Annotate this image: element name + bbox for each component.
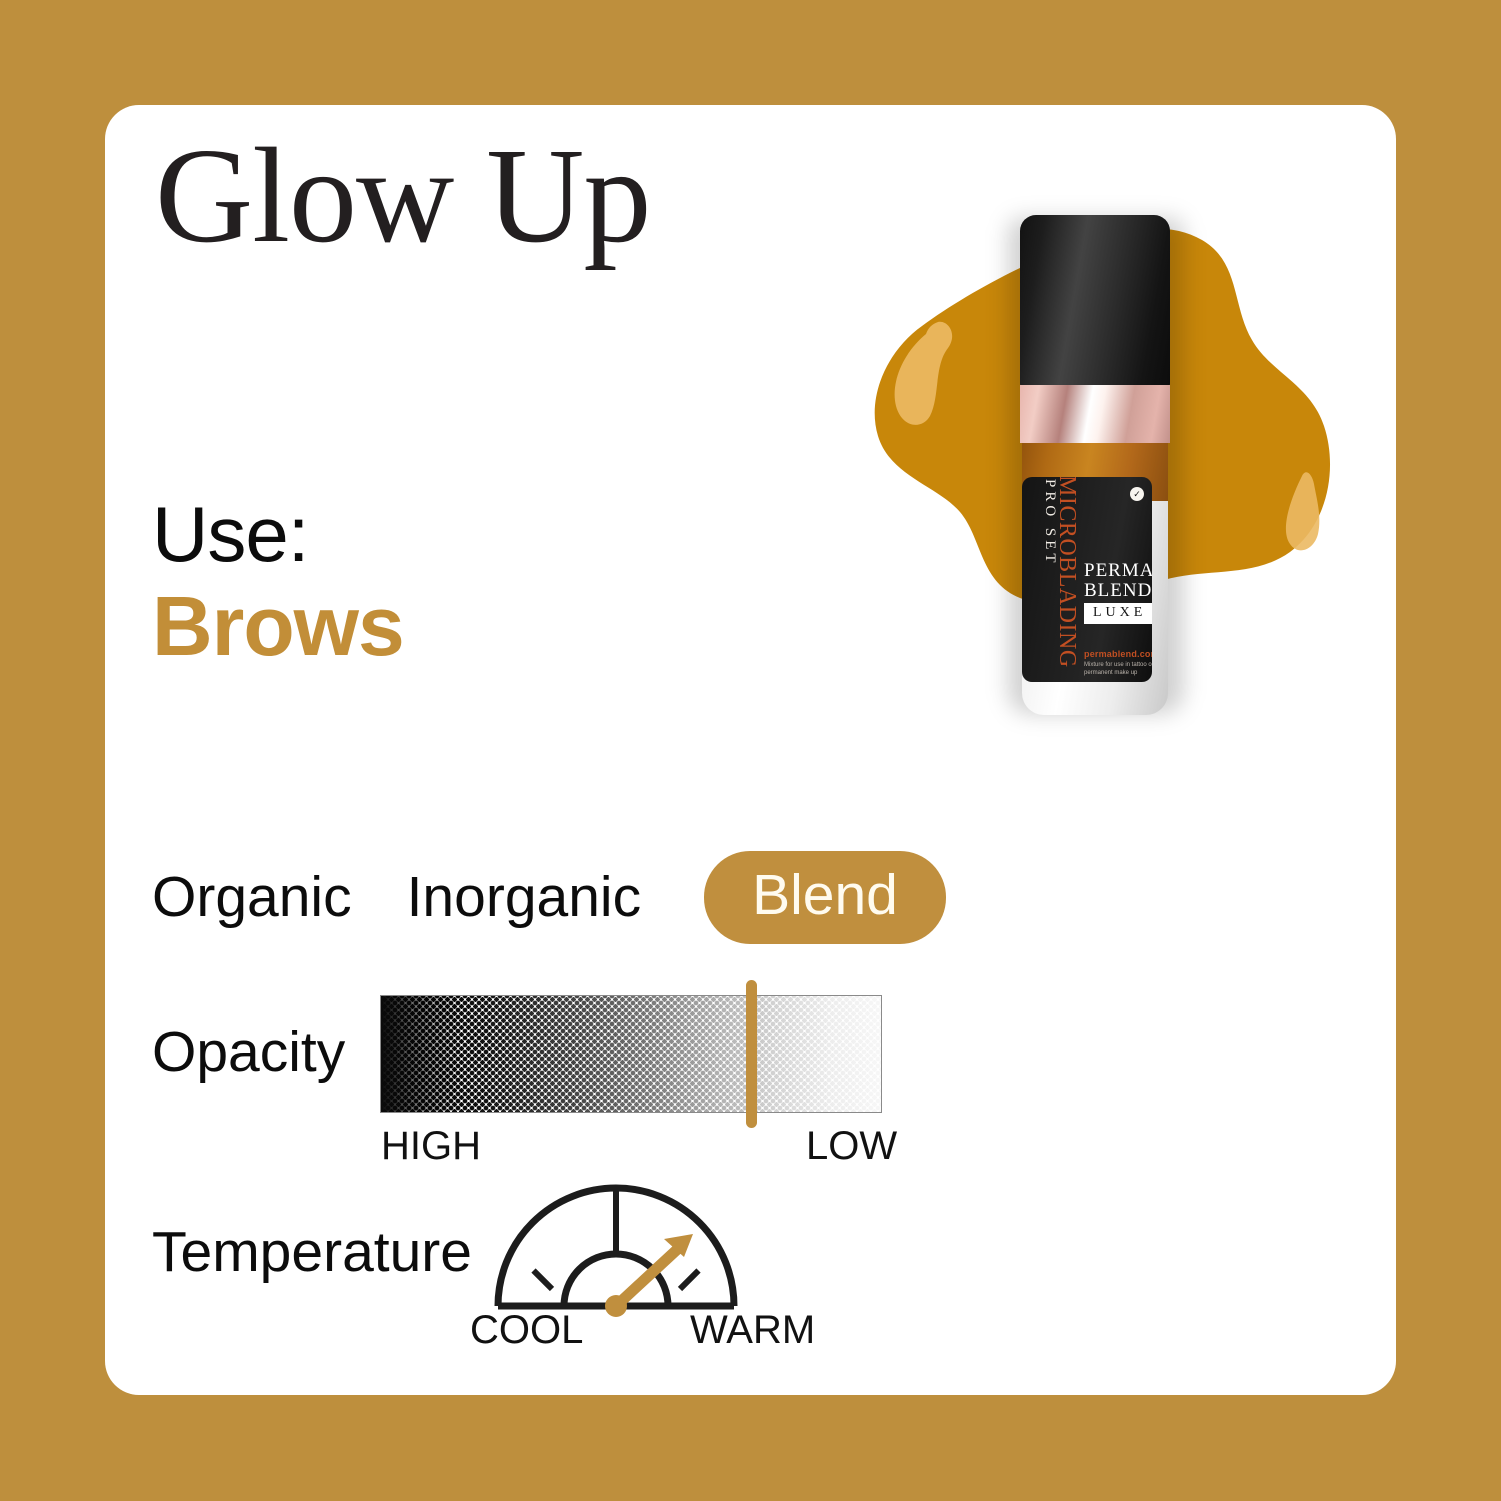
- label-tier-badge: LUXE: [1084, 603, 1152, 624]
- bottle-label: MICROBLADING PRO SET PERMA BLEND. LUXE p…: [1022, 477, 1152, 682]
- use-value: Brows: [152, 584, 404, 668]
- poster-canvas: Glow Up Use: Brows MICROBLADING PRO SET …: [0, 0, 1501, 1501]
- gauge-tick-cool: [534, 1271, 553, 1290]
- temperature-label: Temperature: [152, 1224, 472, 1281]
- page-title: Glow Up: [155, 128, 650, 264]
- composition-selector[interactable]: Organic Inorganic Blend: [152, 853, 946, 941]
- label-brand-line-1: PERMA: [1084, 560, 1152, 581]
- opacity-gradient-bar: [380, 995, 882, 1113]
- label-brand-line-2: BLEND.: [1084, 580, 1152, 601]
- bottle-rose-gold-band: [1020, 385, 1170, 443]
- opacity-scale-low-label: LOW: [806, 1126, 897, 1166]
- label-fine-print: Mixture for use in tattoo or permanent m…: [1084, 662, 1152, 677]
- opacity-label: Opacity: [152, 1024, 345, 1081]
- use-label: Use:: [152, 495, 308, 573]
- check-badge-icon: ✓: [1130, 487, 1144, 501]
- temperature-scale-warm-label: WARM: [690, 1310, 815, 1350]
- composition-option-inorganic[interactable]: Inorganic: [407, 869, 642, 926]
- temperature-gauge: [486, 1160, 746, 1320]
- opacity-scale-high-label: HIGH: [381, 1126, 481, 1166]
- gauge-tick-warm: [680, 1271, 699, 1290]
- label-website-url: permablend.com: [1084, 649, 1152, 659]
- temperature-scale-cool-label: COOL: [470, 1310, 583, 1350]
- label-brand-name: PERMA BLEND.: [1084, 561, 1152, 601]
- opacity-solid-edge: [381, 996, 461, 1112]
- bottle-cap: [1020, 215, 1170, 387]
- composition-option-blend[interactable]: Blend: [704, 851, 946, 944]
- opacity-marker[interactable]: [746, 980, 757, 1128]
- product-bottle: MICROBLADING PRO SET PERMA BLEND. LUXE p…: [1010, 215, 1180, 715]
- product-hero: MICROBLADING PRO SET PERMA BLEND. LUXE p…: [830, 200, 1350, 730]
- composition-option-organic[interactable]: Organic: [152, 869, 352, 926]
- label-pro-set-text: PRO SET: [1041, 479, 1058, 682]
